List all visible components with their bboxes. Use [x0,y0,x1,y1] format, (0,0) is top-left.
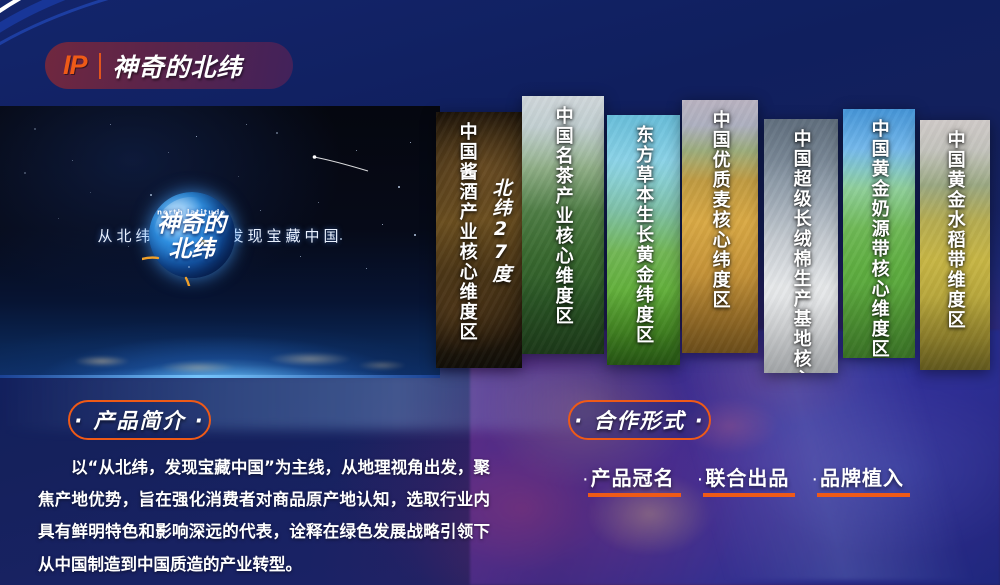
ip-badge: IP 神奇的北纬 [45,42,293,89]
cooperation-item-0[interactable]: ·产品冠名 [580,462,677,497]
region-card-cotton[interactable]: 中国超级长绒棉生产基地核心维度区 [764,119,838,373]
cooperation-item-label: 产品冠名 [591,466,675,490]
star-dot [72,160,73,161]
cooperation-item-1[interactable]: ·联合出品 [695,462,792,497]
brand-logo-stack: north latitude 神奇的 北纬 [132,209,252,262]
cooperation-item-label: 品牌植入 [820,466,904,490]
star-dot [24,172,26,174]
product-intro-badge: · 产品简介 · [68,400,211,440]
star-dot [356,150,357,151]
hero-space-banner: 从北纬 north latitude 神奇的 北纬 发现宝藏中国 [0,106,440,378]
globe-logo-icon: north latitude 神奇的 北纬 [149,192,235,278]
region-card-label: 中国黄金水稻带维度区 [944,130,965,330]
bullet-dot-icon: · [811,468,818,491]
star-dot [246,124,247,125]
star-dot [34,128,36,130]
star-dot [188,266,190,268]
region-card-label: 中国酱酒产业核心维度区 [456,122,477,342]
star-dot [110,124,111,125]
cooperation-badge-label: · 合作形式 · [574,405,705,435]
star-dot [150,194,152,196]
star-dot [276,132,278,134]
region-card-label: 中国黄金奶源带核心维度区 [868,119,889,348]
logo-cn-line2: 北纬 [132,240,252,262]
cooperation-badge: · 合作形式 · [568,400,711,440]
region-card-label: 东方草本生长黄金纬度区 [633,125,654,345]
star-dot [398,186,400,188]
comet-icon [312,154,370,172]
bullet-dot-icon: · [582,468,589,491]
cooperation-item-2[interactable]: ·品牌植入 [809,462,906,497]
region-card-wine[interactable]: 中国酱酒产业核心维度区 北纬27度 [436,112,522,368]
region-card-label: 中国名茶产业核心维度区 [552,106,573,326]
cooperation-item-underline [703,493,796,497]
ip-mark-label: IP [63,50,87,81]
region-card-herb[interactable]: 东方草本生长黄金纬度区 [607,115,680,365]
ip-brand-title: 神奇的北纬 [113,48,243,84]
product-intro-text: 以“从北纬，发现宝藏中国”为主线，从地理视角出发，聚焦产地优势，旨在强化消费者对… [38,452,490,581]
bullet-dot-icon: · [697,468,704,491]
cooperation-item-underline [588,493,681,497]
cooperation-item-underline [817,493,910,497]
star-dot [414,234,416,236]
product-intro-badge-label: · 产品简介 · [74,405,205,435]
ip-badge-divider [99,53,101,79]
star-dot [238,176,239,177]
cooperation-items-row: ·产品冠名 ·联合出品 ·品牌植入 [580,462,980,497]
star-dot [410,142,411,143]
city-lights [30,336,430,378]
region-card-wheat[interactable]: 中国优质麦核心纬度区 [682,100,758,353]
star-dot [196,136,197,137]
region-card-label: 中国优质麦核心纬度区 [709,110,730,310]
star-dot [340,238,342,240]
region-card-tea[interactable]: 中国名茶产业核心维度区 [522,96,604,354]
region-card-sublabel: 北纬27度 [488,178,515,284]
hero-headline-row: 从北纬 north latitude 神奇的 北纬 发现宝藏中国 [0,192,440,278]
logo-cn-line1: 神奇的 [132,215,252,237]
region-card-rice[interactable]: 中国黄金水稻带维度区 [920,120,990,370]
cooperation-item-label: 联合出品 [705,466,789,490]
region-card-dairy[interactable]: 中国黄金奶源带核心维度区 [843,109,915,358]
star-dot [168,152,169,153]
poster-page: IP 神奇的北纬 从北纬 north latitude 神奇的 北纬 [0,0,1000,585]
hero-bottom-edge [0,375,440,378]
region-card-label: 中国超级长绒棉生产基地核心维度区 [790,129,811,363]
